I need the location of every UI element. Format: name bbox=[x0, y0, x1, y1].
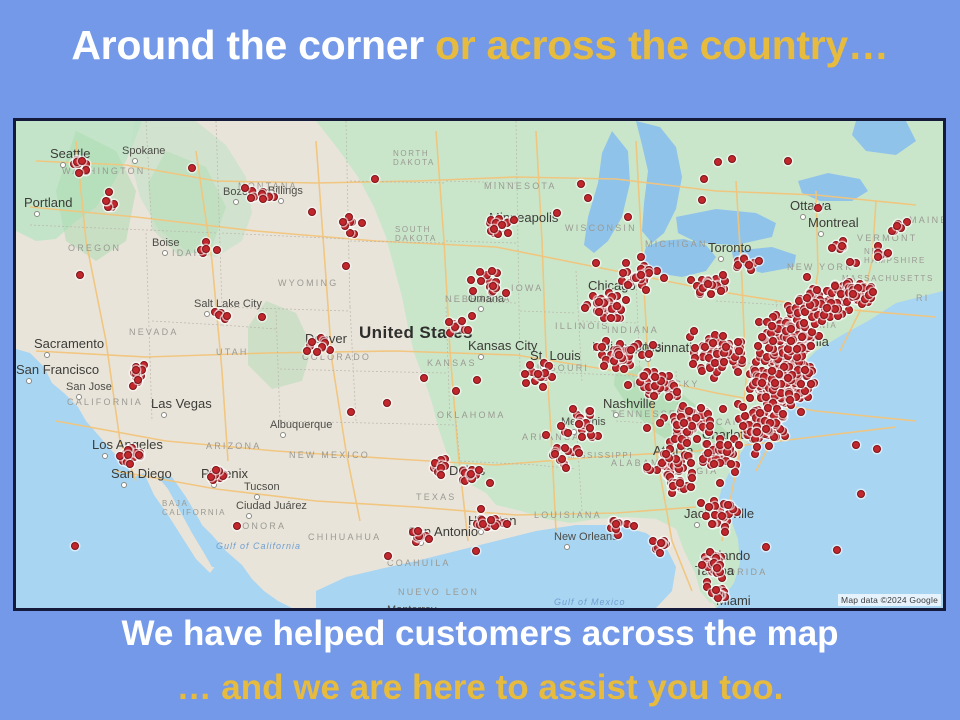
customer-marker-dot[interactable] bbox=[487, 516, 495, 524]
customer-marker-dot[interactable] bbox=[467, 276, 475, 284]
page-title: Around the corner or across the country… bbox=[0, 24, 960, 67]
customer-marker-dot[interactable] bbox=[598, 343, 606, 351]
customer-marker-dot[interactable] bbox=[308, 208, 316, 216]
customer-marker-dot[interactable] bbox=[371, 175, 379, 183]
customer-marker-dot[interactable] bbox=[207, 473, 215, 481]
customer-marker-dot[interactable] bbox=[803, 273, 811, 281]
customer-marker-dot[interactable] bbox=[779, 410, 787, 418]
map-city-dot bbox=[162, 250, 168, 256]
customer-marker-dot[interactable] bbox=[326, 346, 334, 354]
customer-marker-dot[interactable] bbox=[831, 305, 839, 313]
customer-marker-dot[interactable] bbox=[683, 439, 691, 447]
customer-marker-dot[interactable] bbox=[534, 370, 542, 378]
customer-marker-dot[interactable] bbox=[697, 404, 705, 412]
customer-marker-dot[interactable] bbox=[477, 505, 485, 513]
customer-marker-dot[interactable] bbox=[649, 341, 657, 349]
customer-marker-dot[interactable] bbox=[800, 319, 808, 327]
customer-marker-dot[interactable] bbox=[562, 464, 570, 472]
customer-marker-dot[interactable] bbox=[673, 388, 681, 396]
customer-marker-dot[interactable] bbox=[814, 204, 822, 212]
customer-marker-dot[interactable] bbox=[656, 419, 664, 427]
map-city-dot bbox=[102, 453, 108, 459]
customer-marker-dot[interactable] bbox=[718, 512, 726, 520]
map-city-dot bbox=[26, 378, 32, 384]
map-city-dot bbox=[278, 198, 284, 204]
customer-marker-dot[interactable] bbox=[656, 549, 664, 557]
customer-marker-dot[interactable] bbox=[584, 194, 592, 202]
customer-marker-dot[interactable] bbox=[689, 360, 697, 368]
customer-marker-dot[interactable] bbox=[489, 282, 497, 290]
customer-marker-dot[interactable] bbox=[784, 345, 792, 353]
customer-marker-dot[interactable] bbox=[756, 409, 764, 417]
map-canvas[interactable]: WASHINGTONOREGONIDAHOMONTANAWYOMINGNEVAD… bbox=[16, 121, 943, 608]
customer-marker-dot[interactable] bbox=[561, 444, 569, 452]
customer-marker-dot[interactable] bbox=[734, 338, 742, 346]
customer-marker-dot[interactable] bbox=[213, 246, 221, 254]
customer-marker-dot[interactable] bbox=[874, 253, 882, 261]
customer-marker-dot[interactable] bbox=[735, 347, 743, 355]
customer-marker-dot[interactable] bbox=[557, 422, 565, 430]
map-city-dot bbox=[478, 306, 484, 312]
map-city-dot bbox=[233, 199, 239, 205]
customer-marker-dot[interactable] bbox=[575, 449, 583, 457]
customer-marker-dot[interactable] bbox=[697, 499, 705, 507]
customer-marker-dot[interactable] bbox=[553, 209, 561, 217]
customer-marker-dot[interactable] bbox=[642, 286, 650, 294]
customer-marker-dot[interactable] bbox=[643, 424, 651, 432]
customer-marker-dot[interactable] bbox=[542, 431, 550, 439]
customer-marker-dot[interactable] bbox=[627, 346, 635, 354]
customer-marker-dot[interactable] bbox=[755, 318, 763, 326]
customer-marker-dot[interactable] bbox=[803, 294, 811, 302]
map-city-dot bbox=[121, 482, 127, 488]
map-city-dot bbox=[34, 211, 40, 217]
customer-marker-dot[interactable] bbox=[873, 445, 881, 453]
customer-marker-dot[interactable] bbox=[313, 348, 321, 356]
headline-part-gold: or across the country… bbox=[424, 22, 889, 68]
customer-marker-dot[interactable] bbox=[660, 274, 668, 282]
customer-marker-dot[interactable] bbox=[754, 342, 762, 350]
customer-marker-dot[interactable] bbox=[801, 366, 809, 374]
customer-marker-dot[interactable] bbox=[769, 337, 777, 345]
map-city-dot bbox=[694, 522, 700, 528]
customer-marker-dot[interactable] bbox=[339, 218, 347, 226]
customer-marker-dot[interactable] bbox=[768, 322, 776, 330]
customer-marker-dot[interactable] bbox=[714, 594, 722, 602]
customer-marker-dot[interactable] bbox=[503, 520, 511, 528]
customer-marker-dot[interactable] bbox=[719, 405, 727, 413]
customer-marker-dot[interactable] bbox=[762, 393, 770, 401]
customer-marker-dot[interactable] bbox=[521, 370, 529, 378]
map-city-dot bbox=[204, 311, 210, 317]
map-city-dot bbox=[76, 394, 82, 400]
customer-marker-dot[interactable] bbox=[630, 522, 638, 530]
customer-marker-dot[interactable] bbox=[622, 259, 630, 267]
customer-marker-dot[interactable] bbox=[510, 216, 518, 224]
customer-marker-dot[interactable] bbox=[657, 539, 665, 547]
customer-marker-dot[interactable] bbox=[258, 313, 266, 321]
customer-marker-dot[interactable] bbox=[807, 380, 815, 388]
customer-marker-dot[interactable] bbox=[734, 368, 742, 376]
slide-root: Around the corner or across the country… bbox=[0, 0, 960, 720]
customer-marker-dot[interactable] bbox=[464, 326, 472, 334]
customer-marker-dot[interactable] bbox=[383, 399, 391, 407]
customer-marker-dot[interactable] bbox=[607, 314, 615, 322]
customer-marker-dot[interactable] bbox=[653, 466, 661, 474]
customer-marker-dot[interactable] bbox=[640, 372, 648, 380]
map-city-dot bbox=[818, 231, 824, 237]
customer-marker-dot[interactable] bbox=[692, 414, 700, 422]
footer-line-1: We have helped customers across the map bbox=[0, 616, 960, 653]
customer-marker-dot[interactable] bbox=[720, 358, 728, 366]
customer-location-map[interactable]: WASHINGTONOREGONIDAHOMONTANAWYOMINGNEVAD… bbox=[13, 118, 946, 611]
customer-marker-dot[interactable] bbox=[762, 425, 770, 433]
customer-marker-dot[interactable] bbox=[846, 258, 854, 266]
customer-marker-dot[interactable] bbox=[592, 259, 600, 267]
customer-marker-dot[interactable] bbox=[594, 432, 602, 440]
customer-marker-dot[interactable] bbox=[645, 350, 653, 358]
customer-marker-dot[interactable] bbox=[727, 460, 735, 468]
map-city-dot bbox=[800, 214, 806, 220]
customer-marker-dot[interactable] bbox=[775, 370, 783, 378]
map-city-dot bbox=[564, 544, 570, 550]
customer-marker-dot[interactable] bbox=[645, 269, 653, 277]
customer-marker-dot[interactable] bbox=[702, 512, 710, 520]
customer-marker-dot[interactable] bbox=[124, 451, 132, 459]
customer-marker-dot[interactable] bbox=[612, 364, 620, 372]
customer-marker-dot[interactable] bbox=[358, 219, 366, 227]
customer-marker-dot[interactable] bbox=[575, 420, 583, 428]
map-city-dot bbox=[718, 256, 724, 262]
customer-marker-dot[interactable] bbox=[75, 169, 83, 177]
customer-marker-dot[interactable] bbox=[126, 460, 134, 468]
customer-marker-dot[interactable] bbox=[884, 249, 892, 257]
map-city-dot bbox=[280, 432, 286, 438]
customer-marker-dot[interactable] bbox=[762, 543, 770, 551]
customer-marker-dot[interactable] bbox=[452, 387, 460, 395]
customer-marker-dot[interactable] bbox=[688, 474, 696, 482]
customer-marker-dot[interactable] bbox=[793, 353, 801, 361]
customer-marker-dot[interactable] bbox=[758, 333, 766, 341]
customer-marker-dot[interactable] bbox=[668, 489, 676, 497]
map-city-dot bbox=[161, 412, 167, 418]
customer-marker-dot[interactable] bbox=[620, 365, 628, 373]
customer-marker-dot[interactable] bbox=[765, 344, 773, 352]
customer-marker-dot[interactable] bbox=[76, 271, 84, 279]
customer-marker-dot[interactable] bbox=[711, 359, 719, 367]
customer-marker-dot[interactable] bbox=[724, 501, 732, 509]
customer-marker-dot[interactable] bbox=[475, 466, 483, 474]
customer-marker-dot[interactable] bbox=[477, 277, 485, 285]
customer-marker-dot[interactable] bbox=[569, 405, 577, 413]
customer-marker-dot[interactable] bbox=[722, 343, 730, 351]
footer-line-2: … and we are here to assist you too. bbox=[0, 670, 960, 707]
map-city-dot bbox=[613, 412, 619, 418]
customer-marker-dot[interactable] bbox=[223, 312, 231, 320]
customer-marker-dot[interactable] bbox=[707, 290, 715, 298]
map-city-dot bbox=[132, 158, 138, 164]
customer-marker-dot[interactable] bbox=[797, 380, 805, 388]
customer-marker-dot[interactable] bbox=[425, 535, 433, 543]
customer-marker-dot[interactable] bbox=[346, 229, 354, 237]
customer-marker-dot[interactable] bbox=[717, 287, 725, 295]
customer-marker-dot[interactable] bbox=[105, 188, 113, 196]
map-city-dot bbox=[478, 354, 484, 360]
map-city-dot bbox=[44, 352, 50, 358]
customer-marker-dot[interactable] bbox=[705, 503, 713, 511]
customer-marker-dot[interactable] bbox=[755, 257, 763, 265]
map-city-dot bbox=[478, 529, 484, 535]
customer-marker-dot[interactable] bbox=[135, 451, 143, 459]
customer-marker-dot[interactable] bbox=[724, 441, 732, 449]
customer-marker-dot[interactable] bbox=[784, 157, 792, 165]
customer-marker-dot[interactable] bbox=[784, 374, 792, 382]
map-city-dot bbox=[60, 162, 66, 168]
customer-marker-dot[interactable] bbox=[624, 213, 632, 221]
customer-marker-dot[interactable] bbox=[658, 459, 666, 467]
customer-marker-dot[interactable] bbox=[676, 479, 684, 487]
customer-marker-dot[interactable] bbox=[739, 403, 747, 411]
customer-marker-dot[interactable] bbox=[801, 387, 809, 395]
customer-marker-dot[interactable] bbox=[701, 343, 709, 351]
customer-marker-dot[interactable] bbox=[488, 267, 496, 275]
customer-marker-dot[interactable] bbox=[719, 332, 727, 340]
customer-marker-dot[interactable] bbox=[102, 197, 110, 205]
headline-part-white: Around the corner bbox=[71, 22, 424, 68]
customer-marker-dot[interactable] bbox=[787, 325, 795, 333]
customer-marker-dot[interactable] bbox=[704, 449, 712, 457]
customer-marker-dot[interactable] bbox=[613, 302, 621, 310]
map-city-dot bbox=[246, 513, 252, 519]
customer-marker-dot[interactable] bbox=[437, 471, 445, 479]
customer-marker-dot[interactable] bbox=[504, 229, 512, 237]
customer-marker-dot[interactable] bbox=[132, 366, 140, 374]
customer-marker-dot[interactable] bbox=[711, 331, 719, 339]
customer-marker-dot[interactable] bbox=[468, 312, 476, 320]
customer-marker-dot[interactable] bbox=[710, 460, 718, 468]
customer-marker-dot[interactable] bbox=[813, 286, 821, 294]
customer-marker-dot[interactable] bbox=[768, 367, 776, 375]
customer-marker-dot[interactable] bbox=[653, 267, 661, 275]
customer-marker-dot[interactable] bbox=[753, 443, 761, 451]
customer-marker-dot[interactable] bbox=[777, 389, 785, 397]
customer-marker-dot[interactable] bbox=[857, 490, 865, 498]
customer-marker-dot[interactable] bbox=[691, 344, 699, 352]
customer-marker-dot[interactable] bbox=[687, 483, 695, 491]
map-attribution: Map data ©2024 Google bbox=[838, 594, 941, 606]
map-city-dot bbox=[254, 494, 260, 500]
customer-marker-dot[interactable] bbox=[716, 479, 724, 487]
